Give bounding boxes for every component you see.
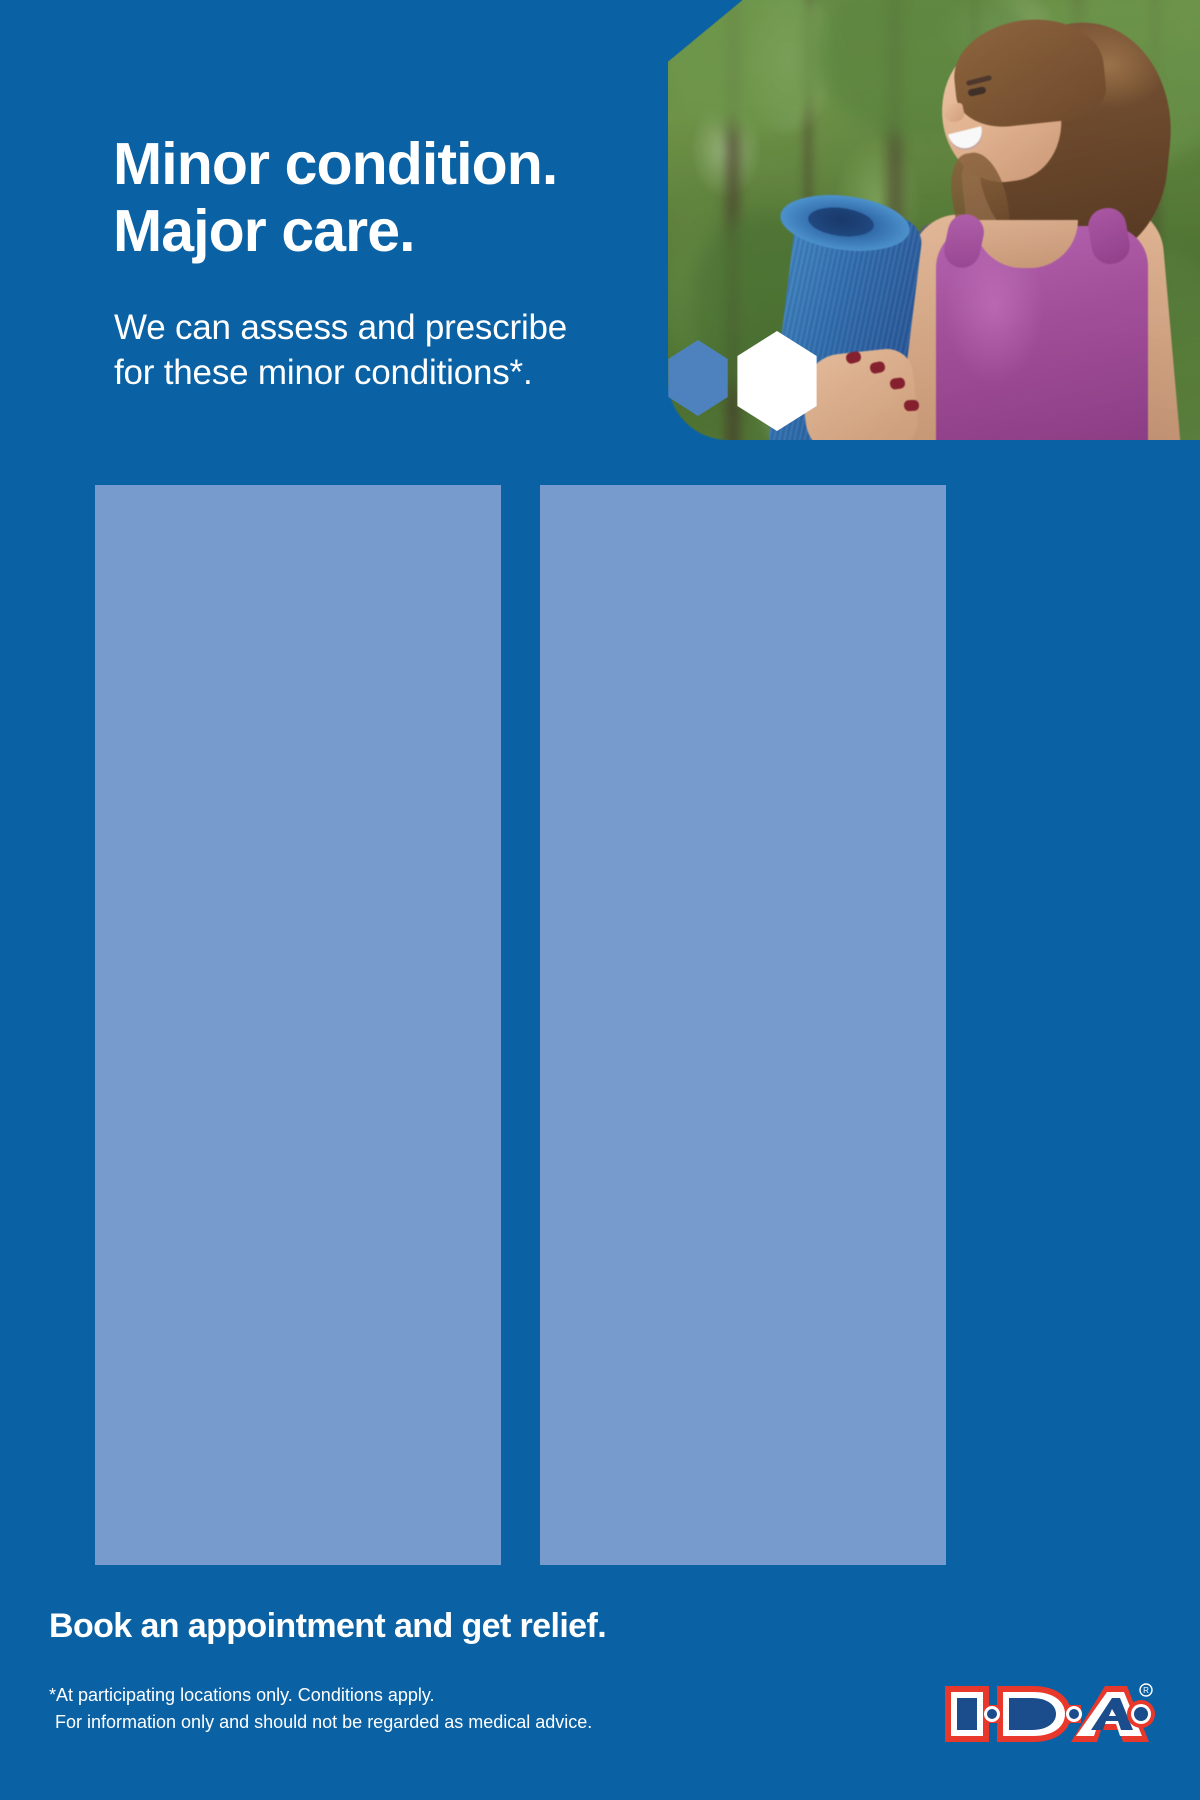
headline-line-2: Major care.: [113, 198, 713, 265]
page-subtitle: We can assess and prescribe for these mi…: [114, 305, 694, 395]
footnote-line-1: *At participating locations only. Condit…: [49, 1682, 592, 1709]
footnotes: *At participating locations only. Condit…: [49, 1682, 592, 1736]
ida-logo-trademark: R: [1140, 1684, 1152, 1696]
ida-logo-end-dot: [1127, 1700, 1155, 1728]
conditions-list-right: [540, 485, 946, 1565]
ida-logo: R: [941, 1678, 1155, 1764]
poster-root: Minor condition. Major care. We can asse…: [0, 0, 1200, 1800]
headline-line-1: Minor condition.: [113, 131, 713, 198]
subheading-line-1: We can assess and prescribe: [114, 305, 694, 350]
footnote-line-2: For information only and should not be r…: [49, 1709, 592, 1736]
conditions-list-left: [95, 485, 501, 1565]
footer-cta-headline: Book an appointment and get relief.: [49, 1607, 606, 1646]
conditions-panels: [95, 485, 946, 1565]
fingernail: [904, 400, 919, 412]
subheading-line-2: for these minor conditions*.: [114, 350, 694, 395]
page-title: Minor condition. Major care.: [113, 131, 713, 265]
svg-text:R: R: [1143, 1686, 1149, 1695]
